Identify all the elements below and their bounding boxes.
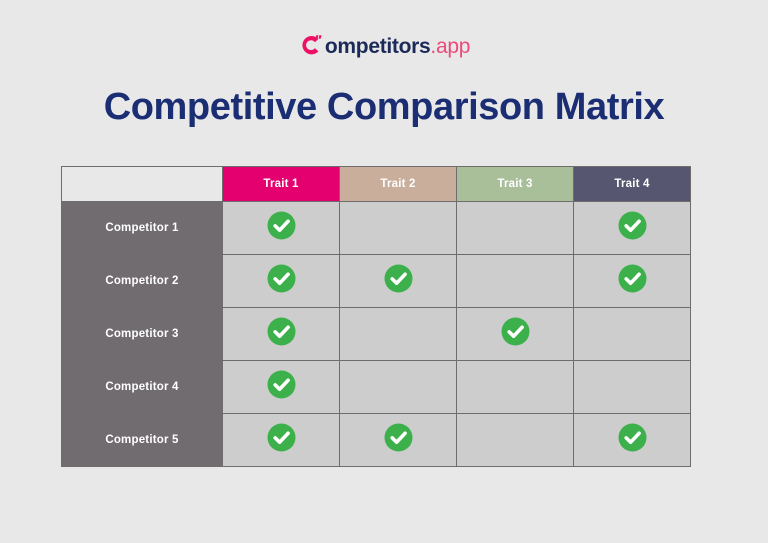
row-header-competitor-3[interactable]: Competitor 3	[62, 308, 223, 361]
matrix-header-row: Trait 1 Trait 2 Trait 3 Trait 4	[62, 167, 691, 202]
cell-competitor-2-trait-2[interactable]	[340, 255, 457, 308]
cell-competitor-4-trait-1[interactable]	[223, 361, 340, 414]
check-circle-icon	[267, 264, 296, 293]
comparison-matrix-table: Trait 1 Trait 2 Trait 3 Trait 4 Competit…	[61, 166, 691, 467]
check-circle-icon	[384, 264, 413, 293]
cell-competitor-4-trait-4[interactable]	[574, 361, 691, 414]
cell-competitor-3-trait-3[interactable]	[457, 308, 574, 361]
check-circle-icon	[267, 211, 296, 240]
brand-name-text: ompetitors	[325, 36, 431, 57]
cell-competitor-2-trait-1[interactable]	[223, 255, 340, 308]
cell-competitor-5-trait-1[interactable]	[223, 414, 340, 467]
cell-competitor-3-trait-1[interactable]	[223, 308, 340, 361]
check-circle-icon	[618, 423, 647, 452]
cell-competitor-4-trait-3[interactable]	[457, 361, 574, 414]
row-header-competitor-4[interactable]: Competitor 4	[62, 361, 223, 414]
page-title: Competitive Comparison Matrix	[0, 86, 768, 129]
check-circle-icon	[501, 317, 530, 346]
cell-competitor-1-trait-2[interactable]	[340, 202, 457, 255]
check-circle-icon	[267, 423, 296, 452]
cell-competitor-5-trait-2[interactable]	[340, 414, 457, 467]
cell-competitor-5-trait-4[interactable]	[574, 414, 691, 467]
table-row: Competitor 4	[62, 361, 691, 414]
table-row: Competitor 1	[62, 202, 691, 255]
check-circle-icon	[267, 370, 296, 399]
table-row: Competitor 3	[62, 308, 691, 361]
cell-competitor-2-trait-4[interactable]	[574, 255, 691, 308]
cell-competitor-1-trait-4[interactable]	[574, 202, 691, 255]
table-row: Competitor 5	[62, 414, 691, 467]
check-circle-icon	[618, 211, 647, 240]
check-circle-icon	[618, 264, 647, 293]
matrix-corner-cell	[62, 167, 223, 202]
table-row: Competitor 2	[62, 255, 691, 308]
column-header-trait-4[interactable]: Trait 4	[574, 167, 691, 202]
check-circle-icon	[384, 423, 413, 452]
cell-competitor-4-trait-2[interactable]	[340, 361, 457, 414]
column-header-trait-2[interactable]: Trait 2	[340, 167, 457, 202]
cell-competitor-2-trait-3[interactable]	[457, 255, 574, 308]
competitors-c-logo-icon	[298, 32, 324, 58]
column-header-trait-1[interactable]: Trait 1	[223, 167, 340, 202]
row-header-competitor-5[interactable]: Competitor 5	[62, 414, 223, 467]
row-header-competitor-1[interactable]: Competitor 1	[62, 202, 223, 255]
column-header-trait-3[interactable]: Trait 3	[457, 167, 574, 202]
check-circle-icon	[267, 317, 296, 346]
cell-competitor-1-trait-1[interactable]	[223, 202, 340, 255]
brand-tld-text: .app	[430, 36, 470, 57]
row-header-competitor-2[interactable]: Competitor 2	[62, 255, 223, 308]
cell-competitor-1-trait-3[interactable]	[457, 202, 574, 255]
cell-competitor-5-trait-3[interactable]	[457, 414, 574, 467]
cell-competitor-3-trait-2[interactable]	[340, 308, 457, 361]
cell-competitor-3-trait-4[interactable]	[574, 308, 691, 361]
brand-logo: ompetitors.app	[0, 30, 768, 60]
